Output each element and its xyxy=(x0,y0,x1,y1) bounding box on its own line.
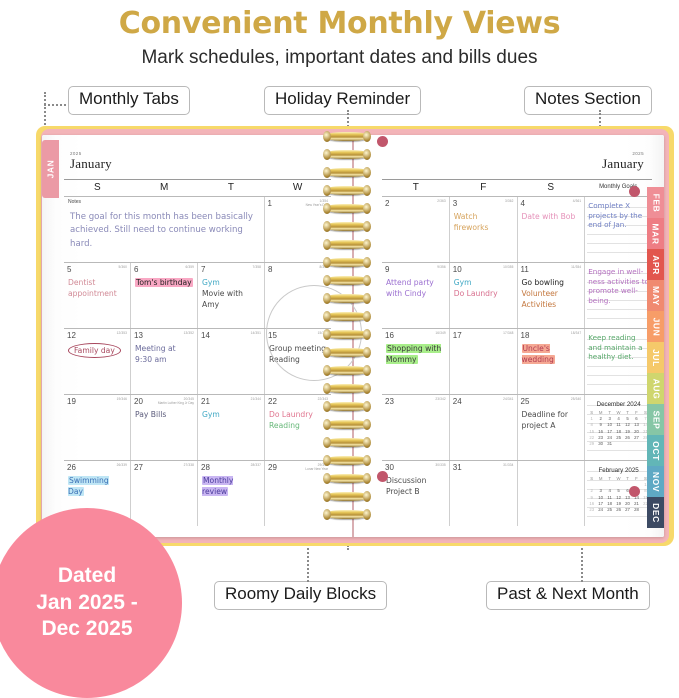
month-tab-label: APR xyxy=(651,255,661,275)
callout-holiday-reminder: Holiday Reminder xyxy=(264,86,421,115)
day-entry: Gym xyxy=(202,409,261,420)
calendar-week-row: 2323/3422424/3412525/340Deadline for pro… xyxy=(382,394,652,460)
day-entry: Volunteer Activities xyxy=(522,288,582,310)
month-tab-jan[interactable]: JAN xyxy=(42,140,59,198)
monthly-goals-cell[interactable]: Complete X projects by the end of Jan. xyxy=(585,197,652,262)
dot-marker-holiday-bottom xyxy=(377,471,388,482)
holiday-label: Lunar New Year xyxy=(305,467,328,471)
day-entry-text: Group meeting xyxy=(269,344,326,353)
calendar-day-cell[interactable]: 1010/355GymDo Laundry xyxy=(450,263,518,328)
day-entry: Reading xyxy=(269,420,328,431)
day-entry-text: Pay Bills xyxy=(135,410,166,419)
month-tab-jan-label: JAN xyxy=(46,160,56,179)
calendar-day-cell[interactable]: 2828/337Monthly review xyxy=(198,461,265,526)
lunar-date: 3/362 xyxy=(505,199,513,203)
month-tab-label: SEP xyxy=(651,410,661,429)
day-number: 7 xyxy=(201,265,205,274)
planner-pages: 2025 January 2025 January SMTWNotesThe g… xyxy=(42,135,664,537)
day-number: 5 xyxy=(67,265,71,274)
day-entries[interactable]: Swimming Day xyxy=(68,475,127,497)
dow-label-M: M xyxy=(131,180,198,196)
day-number: 11 xyxy=(521,265,529,274)
calendar-day-cell[interactable]: 2222/343Do LaundryReading xyxy=(265,395,331,460)
day-number: 13 xyxy=(134,331,143,340)
calendar-grid-right[interactable]: TFSMonthly Goals22/36333/362Watch firewo… xyxy=(382,179,652,527)
dow-label-W: W xyxy=(264,180,331,196)
page-header-right: 2025 January xyxy=(602,151,644,172)
day-number: 30 xyxy=(385,463,394,472)
lunar-date: 7/358 xyxy=(253,265,261,269)
mini-calendar-title: December 2024 xyxy=(587,401,650,408)
calendar-day-cell[interactable]: 1818/347Uncle's wedding xyxy=(518,329,586,394)
day-entry-text: Swimming Day xyxy=(68,476,109,496)
day-entry: Shopping with Mommy xyxy=(386,343,446,365)
calendar-day-cell[interactable]: 33/362Watch fireworks xyxy=(450,197,518,262)
lunar-date: 4/361 xyxy=(573,199,581,203)
day-entries[interactable]: Deadline for project A xyxy=(522,409,582,431)
day-entry-text: Movie with Amy xyxy=(202,289,243,309)
calendar-day-cell[interactable]: 3030/335Discussion Project B xyxy=(382,461,450,526)
lunar-date: 14/351 xyxy=(251,331,261,335)
calendar-day-cell[interactable]: 2929/336Lunar New Year xyxy=(265,461,331,526)
leader-line-monthly-tabs-h xyxy=(44,104,66,106)
lunar-date: 6/359 xyxy=(186,265,194,269)
day-entry-text: Shopping with Mommy xyxy=(386,344,441,364)
lunar-date: 17/348 xyxy=(503,331,513,335)
calendar-day-cell[interactable]: 1515/350Group meetingReading xyxy=(265,329,331,394)
calendar-day-cell[interactable] xyxy=(518,461,586,526)
day-entry-text: Do Laundry xyxy=(454,289,498,298)
month-tab-label: FEB xyxy=(651,193,661,212)
lunar-date: 23/342 xyxy=(435,397,445,401)
day-entries[interactable]: Pay Bills xyxy=(135,409,194,420)
day-entries[interactable]: GymMovie with Amy xyxy=(202,277,261,310)
holiday-label: New Year's Day xyxy=(306,203,328,207)
day-entries[interactable]: Meeting at 9:30 am xyxy=(135,343,194,365)
month-label-left: January xyxy=(70,156,112,172)
day-number: 3 xyxy=(453,199,457,208)
dot-marker-next-month xyxy=(629,486,640,497)
month-tab-apr[interactable]: APR xyxy=(647,249,664,280)
day-entry: Reading xyxy=(269,354,328,365)
calendar-week-row: 1212/353Family day1313/352Meeting at 9:3… xyxy=(64,328,331,394)
calendar-day-cell[interactable]: 1313/352Meeting at 9:30 am xyxy=(131,329,198,394)
day-number: 1 xyxy=(268,199,272,208)
page-subtitle: Mark schedules, important dates and bill… xyxy=(0,47,679,69)
calendar-week-row: 22/36333/362Watch fireworks44/361Date wi… xyxy=(382,196,652,262)
dot-marker-notes xyxy=(629,186,640,197)
monthly-goal-text: Complete X projects by the end of Jan. xyxy=(588,201,650,230)
dow-label-T: T xyxy=(198,180,265,196)
day-entries[interactable]: Tom's birthday xyxy=(135,277,194,288)
month-tab-jun[interactable]: JUN xyxy=(647,311,664,342)
month-tab-oct[interactable]: OCT xyxy=(647,435,664,466)
day-entry: Deadline for project A xyxy=(522,409,582,431)
lunar-date: 16/349 xyxy=(435,331,445,335)
mini-calendar-table: SMTWTFS123456789101112131415161718192021… xyxy=(587,410,650,447)
day-entry-text: Monthly review xyxy=(202,476,233,496)
day-entry-text: Date with Bob xyxy=(522,212,576,221)
badge-line-3: Dec 2025 xyxy=(41,616,132,643)
day-entry-text: Discussion Project B xyxy=(386,476,426,496)
page-header-left: 2025 January xyxy=(70,151,112,172)
monthly-goals-header: Monthly Goals xyxy=(585,180,653,196)
dow-label-S: S xyxy=(64,180,131,196)
day-entries[interactable]: Date with Bob xyxy=(522,211,582,222)
day-entry: Do Laundry xyxy=(454,288,514,299)
day-entry-text: Dentist appointment xyxy=(68,278,117,298)
day-entry-text: Uncle's wedding xyxy=(522,344,555,364)
day-number: 18 xyxy=(521,331,530,340)
day-number: 4 xyxy=(521,199,525,208)
mini-calendar-row: 293031 xyxy=(587,441,650,447)
calendar-day-cell[interactable]: 1212/353Family day xyxy=(64,329,131,394)
day-entry-text: Gym xyxy=(202,410,220,419)
day-entry: Gym xyxy=(454,277,514,288)
day-entry-text: Watch fireworks xyxy=(454,212,489,232)
monthly-goals-cell[interactable]: Engage in well-ness activities to promot… xyxy=(585,263,652,328)
dow-label-T: T xyxy=(382,180,450,196)
lunar-date: 22/343 xyxy=(318,397,328,401)
month-tab-label: MAY xyxy=(651,286,661,306)
calendar-day-cell[interactable]: 11/354New Year's Day xyxy=(265,197,332,262)
day-entries[interactable]: Do LaundryReading xyxy=(269,409,328,431)
day-entry: Discussion Project B xyxy=(386,475,446,497)
day-number: 17 xyxy=(453,331,462,340)
dow-label-F: F xyxy=(450,180,518,196)
day-number: 14 xyxy=(201,331,210,340)
day-entry-text: Volunteer Activities xyxy=(522,289,558,309)
day-entries[interactable]: Group meetingReading xyxy=(269,343,328,365)
calendar-day-cell[interactable]: 44/361Date with Bob xyxy=(518,197,586,262)
day-entries[interactable]: Discussion Project B xyxy=(386,475,446,497)
day-number: 23 xyxy=(385,397,394,406)
calendar-day-cell[interactable]: 3131/334 xyxy=(450,461,518,526)
month-tab-label: NOV xyxy=(651,471,661,491)
lunar-date: 26/339 xyxy=(117,463,127,467)
day-entry: Tom's birthday xyxy=(135,277,194,288)
day-entries[interactable]: Attend party with Cindy xyxy=(386,277,446,299)
day-entry: Go bowling xyxy=(522,277,582,288)
day-number: 29 xyxy=(268,463,277,472)
lunar-date: 30/335 xyxy=(435,463,445,467)
day-number: 12 xyxy=(67,331,76,340)
day-entries[interactable]: Family day xyxy=(68,343,127,358)
day-entry: Movie with Amy xyxy=(202,288,261,310)
calendar-week-row: 55/360Dentist appointment66/359Tom's bir… xyxy=(64,262,331,328)
day-entry: Family day xyxy=(68,343,127,358)
dow-header-row: TFSMonthly Goals xyxy=(382,180,652,196)
day-entry-text: Tom's birthday xyxy=(135,278,193,287)
day-number: 16 xyxy=(385,331,394,340)
calendar-day-cell[interactable]: 88/357 xyxy=(265,263,331,328)
day-entries[interactable]: Uncle's wedding xyxy=(522,343,582,365)
day-entry: Gym xyxy=(202,277,261,288)
calendar-day-cell[interactable]: 1616/349Shopping with Mommy xyxy=(382,329,450,394)
month-tab-aug[interactable]: AUG xyxy=(647,373,664,404)
day-number: 9 xyxy=(385,265,389,274)
day-number: 28 xyxy=(201,463,210,472)
day-entry: Meeting at 9:30 am xyxy=(135,343,194,365)
dow-label-S: S xyxy=(517,180,585,196)
month-tab-label: MAR xyxy=(651,223,661,244)
day-entry: Date with Bob xyxy=(522,211,582,222)
monthly-goals-cell[interactable]: Keep reading and maintain a healthy diet… xyxy=(585,329,652,394)
lunar-date: 21/344 xyxy=(251,397,261,401)
day-number: 27 xyxy=(134,463,143,472)
calendar-day-cell[interactable]: 2424/341 xyxy=(450,395,518,460)
lunar-date: 9/356 xyxy=(437,265,445,269)
day-entries[interactable]: Watch fireworks xyxy=(454,211,514,233)
notes-text: The goal for this month has been basical… xyxy=(70,211,260,251)
day-entry-text: Gym xyxy=(202,278,220,287)
page-title: Convenient Monthly Views xyxy=(0,0,679,41)
month-tab-may[interactable]: MAY xyxy=(647,280,664,311)
lunar-date: 2/363 xyxy=(437,199,445,203)
day-entry: Uncle's wedding xyxy=(522,343,582,365)
day-number: 20 xyxy=(134,397,143,406)
calendar-day-cell[interactable]: 2323/342 xyxy=(382,395,450,460)
day-number: 2 xyxy=(385,199,389,208)
lunar-date: 15/350 xyxy=(318,331,328,335)
calendar-day-cell[interactable]: 1414/351 xyxy=(198,329,265,394)
day-entries[interactable]: Shopping with Mommy xyxy=(386,343,446,365)
month-tab-label: AUG xyxy=(651,378,661,399)
notes-block[interactable]: NotesThe goal for this month has been ba… xyxy=(64,197,265,262)
calendar-week-row: 99/356Attend party with Cindy1010/355Gym… xyxy=(382,262,652,328)
holiday-label: Martin Luther King Jr Day xyxy=(158,401,194,405)
calendar-day-cell[interactable]: 22/363 xyxy=(382,197,450,262)
calendar-day-cell[interactable]: 2121/344Gym xyxy=(198,395,265,460)
dated-range-badge: Dated Jan 2025 - Dec 2025 xyxy=(0,508,182,698)
lunar-date: 5/360 xyxy=(119,265,127,269)
lunar-date: 25/340 xyxy=(571,397,581,401)
day-number: 24 xyxy=(453,397,462,406)
day-number: 19 xyxy=(67,397,76,406)
calendar-day-cell[interactable]: 2525/340Deadline for project A xyxy=(518,395,586,460)
calendar-day-cell[interactable]: 2727/338 xyxy=(131,461,198,526)
lunar-date: 24/341 xyxy=(503,397,513,401)
month-tab-mar[interactable]: MAR xyxy=(647,218,664,249)
day-entry-text: Reading xyxy=(269,355,300,364)
month-tab-label: JUN xyxy=(651,317,661,336)
day-entry: Swimming Day xyxy=(68,475,127,497)
mini-calendar-title: February 2025 xyxy=(587,467,650,474)
day-entry-text: Deadline for project A xyxy=(522,410,569,430)
month-tabs-right[interactable]: FEBMARAPRMAYJUNJULAUGSEPOCTNOVDEC xyxy=(647,187,664,528)
callout-notes-section: Notes Section xyxy=(524,86,652,115)
monthly-goals-cell[interactable]: December 2024SMTWTFS12345678910111213141… xyxy=(585,395,652,460)
callout-monthly-tabs: Monthly Tabs xyxy=(68,86,190,115)
lunar-date: 31/334 xyxy=(503,463,513,467)
day-entry: Watch fireworks xyxy=(454,211,514,233)
monthly-goal-text: Keep reading and maintain a healthy diet… xyxy=(588,333,650,362)
page-seam xyxy=(352,135,354,537)
lunar-date: 28/337 xyxy=(251,463,261,467)
dow-header-row: SMTW xyxy=(64,180,331,196)
day-entry-text: Reading xyxy=(269,421,300,430)
day-number: 8 xyxy=(268,265,272,274)
day-entry-text: Gym xyxy=(454,278,472,287)
calendar-week-row: NotesThe goal for this month has been ba… xyxy=(64,196,331,262)
month-tab-label: DEC xyxy=(651,503,661,523)
month-tab-jul[interactable]: JUL xyxy=(647,342,664,373)
calendar-day-cell[interactable]: 99/356Attend party with Cindy xyxy=(382,263,450,328)
notes-label: Notes xyxy=(68,199,81,205)
day-entry-text: Attend party with Cindy xyxy=(386,278,434,298)
day-entry: Group meeting xyxy=(269,343,328,354)
lunar-date: 19/346 xyxy=(117,397,127,401)
day-number: 15 xyxy=(268,331,277,340)
day-entries[interactable]: Dentist appointment xyxy=(68,277,127,299)
month-tab-sep[interactable]: SEP xyxy=(647,404,664,435)
day-entries[interactable]: Go bowlingVolunteer Activities xyxy=(522,277,582,310)
lunar-date: 18/347 xyxy=(571,331,581,335)
day-entry: Attend party with Cindy xyxy=(386,277,446,299)
badge-line-2: Jan 2025 - xyxy=(36,590,138,617)
day-number: 21 xyxy=(201,397,210,406)
mini-calendar-row: 232425262728 xyxy=(587,507,650,513)
day-entry-text: Meeting at 9:30 am xyxy=(135,344,176,364)
day-number: 10 xyxy=(453,265,462,274)
day-entries[interactable]: GymDo Laundry xyxy=(454,277,514,299)
mini-calendar-table: SMTWTFS123456789101112131415161718192021… xyxy=(587,476,650,513)
day-entry: Pay Bills xyxy=(135,409,194,420)
calendar-week-row: 3030/335Discussion Project B3131/334Febr… xyxy=(382,460,652,526)
day-entries[interactable]: Monthly review xyxy=(202,475,261,497)
day-number: 22 xyxy=(268,397,277,406)
month-tab-dec[interactable]: DEC xyxy=(647,497,664,528)
calendar-week-row: 1616/349Shopping with Mommy1717/3481818/… xyxy=(382,328,652,394)
day-number: 31 xyxy=(453,463,462,472)
lunar-date: 12/353 xyxy=(117,331,127,335)
day-number: 25 xyxy=(521,397,530,406)
day-entry: Monthly review xyxy=(202,475,261,497)
lunar-date: 11/354 xyxy=(571,265,581,269)
calendar-day-cell[interactable]: 55/360Dentist appointment xyxy=(64,263,131,328)
day-entry-text: Do Laundry xyxy=(269,410,313,419)
badge-line-1: Dated xyxy=(58,563,116,590)
month-tab-label: JUL xyxy=(651,349,661,367)
day-entries[interactable]: Gym xyxy=(202,409,261,420)
calendar-week-row: 1919/3462020/345Martin Luther King Jr Da… xyxy=(64,394,331,460)
dot-marker-holiday-top xyxy=(377,136,388,147)
day-entry: Do Laundry xyxy=(269,409,328,420)
lunar-date: 13/352 xyxy=(184,331,194,335)
calendar-day-cell[interactable]: 2020/345Martin Luther King Jr DayPay Bil… xyxy=(131,395,198,460)
lunar-date: 10/355 xyxy=(503,265,513,269)
day-entry: Dentist appointment xyxy=(68,277,127,299)
calendar-day-cell[interactable]: 77/358GymMovie with Amy xyxy=(198,263,265,328)
monthly-goal-text: Engage in well-ness activities to promot… xyxy=(588,267,650,305)
month-tab-nov[interactable]: NOV xyxy=(647,466,664,497)
day-number: 26 xyxy=(67,463,76,472)
day-number: 6 xyxy=(134,265,138,274)
lunar-date: 8/357 xyxy=(320,265,328,269)
calendar-day-cell[interactable]: 66/359Tom's birthday xyxy=(131,263,198,328)
day-entry-text: Family day xyxy=(68,343,121,358)
month-tab-feb[interactable]: FEB xyxy=(647,187,664,218)
monthly-goals-cell[interactable]: February 2025SMTWTFS12345678910111213141… xyxy=(585,461,652,526)
calendar-day-cell[interactable]: 1717/348 xyxy=(450,329,518,394)
month-tab-label: OCT xyxy=(651,441,661,461)
callout-past-next-month: Past & Next Month xyxy=(486,581,650,610)
callout-roomy-daily-blocks: Roomy Daily Blocks xyxy=(214,581,387,610)
mini-calendar: February 2025SMTWTFS12345678910111213141… xyxy=(587,467,650,513)
lunar-date: 27/338 xyxy=(184,463,194,467)
mini-calendar: December 2024SMTWTFS12345678910111213141… xyxy=(587,401,650,447)
day-entry-text: Go bowling xyxy=(522,278,564,287)
month-label-right: January xyxy=(602,156,644,172)
calendar-grid-left[interactable]: SMTWNotesThe goal for this month has bee… xyxy=(64,179,331,527)
calendar-day-cell[interactable]: 1111/354Go bowlingVolunteer Activities xyxy=(518,263,586,328)
calendar-day-cell[interactable]: 1919/346 xyxy=(64,395,131,460)
planner-spread: 2025 January 2025 January SMTWNotesThe g… xyxy=(36,126,674,546)
